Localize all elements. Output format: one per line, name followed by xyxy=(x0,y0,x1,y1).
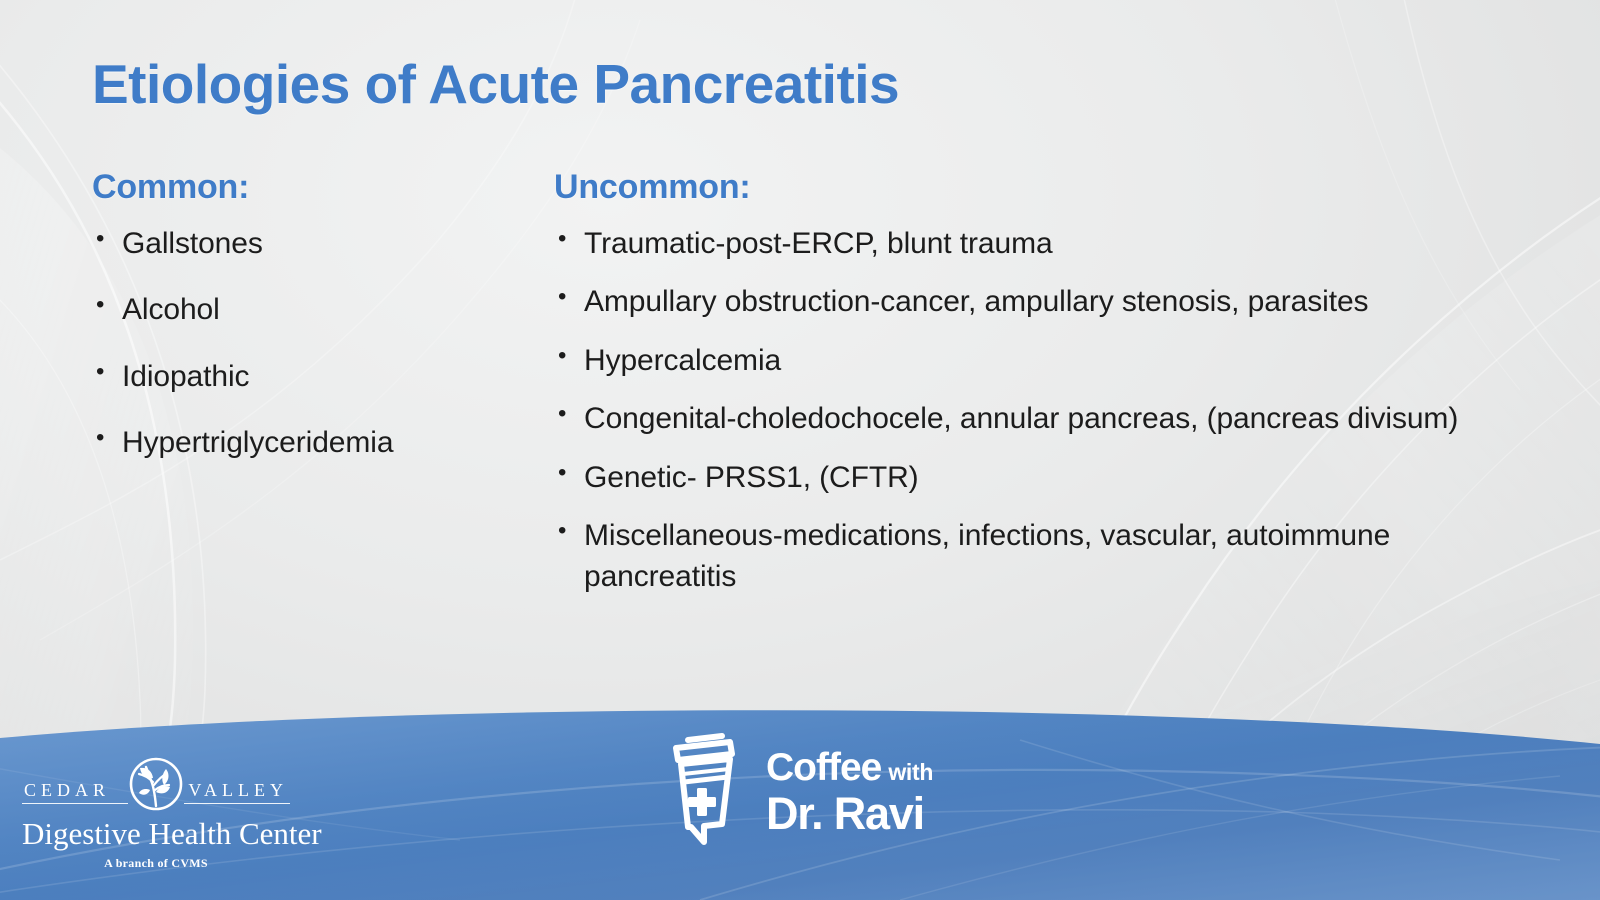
coffee-with-dr-ravi-logo: Coffee with Dr. Ravi xyxy=(660,728,933,850)
page-title: Etiologies of Acute Pancreatitis xyxy=(92,52,899,116)
common-list: Gallstones Alcohol Idiopathic Hypertrigl… xyxy=(92,223,542,464)
cedar-valley-emblem-row: CEDAR VALLEY xyxy=(22,756,290,814)
list-item: Miscellaneous-medications, infections, v… xyxy=(554,515,1544,598)
list-item: Genetic- PRSS1, (CFTR) xyxy=(554,457,1544,498)
list-item: Alcohol xyxy=(92,289,542,330)
coffee-logo-text: Coffee with Dr. Ravi xyxy=(766,742,933,836)
coffee-word: Coffee xyxy=(766,748,881,787)
list-item: Traumatic-post-ERCP, blunt trauma xyxy=(554,223,1544,264)
list-item: Hypertriglyceridemia xyxy=(92,422,542,463)
with-word: with xyxy=(888,761,933,784)
uncommon-heading: Uncommon: xyxy=(554,168,1544,207)
wordmark-cedar: CEDAR xyxy=(22,780,128,804)
cedar-valley-tagline: A branch of CVMS xyxy=(22,856,290,871)
list-item: Congenital-choledochocele, annular pancr… xyxy=(554,398,1544,439)
list-item: Ampullary obstruction-cancer, ampullary … xyxy=(554,281,1544,322)
list-item: Gallstones xyxy=(92,223,542,264)
list-item: Hypercalcemia xyxy=(554,340,1544,381)
uncommon-list: Traumatic-post-ERCP, blunt trauma Ampull… xyxy=(554,223,1544,598)
wordmark-valley: VALLEY xyxy=(184,780,290,804)
coffee-cup-medical-cross-icon xyxy=(660,728,752,850)
common-column: Common: Gallstones Alcohol Idiopathic Hy… xyxy=(92,168,542,489)
cedar-valley-wordmark: CEDAR VALLEY xyxy=(22,780,290,804)
cedar-valley-logo: CEDAR VALLEY Digestive Health Center A b… xyxy=(22,756,290,871)
uncommon-column: Uncommon: Traumatic-post-ERCP, blunt tra… xyxy=(554,168,1544,615)
coffee-line-2: Dr. Ravi xyxy=(766,791,933,836)
slide: Etiologies of Acute Pancreatitis Common:… xyxy=(0,0,1600,900)
list-item: Idiopathic xyxy=(92,356,542,397)
cedar-valley-name: Digestive Health Center xyxy=(22,818,290,851)
common-heading: Common: xyxy=(92,168,542,207)
coffee-line-1: Coffee with xyxy=(766,748,933,787)
